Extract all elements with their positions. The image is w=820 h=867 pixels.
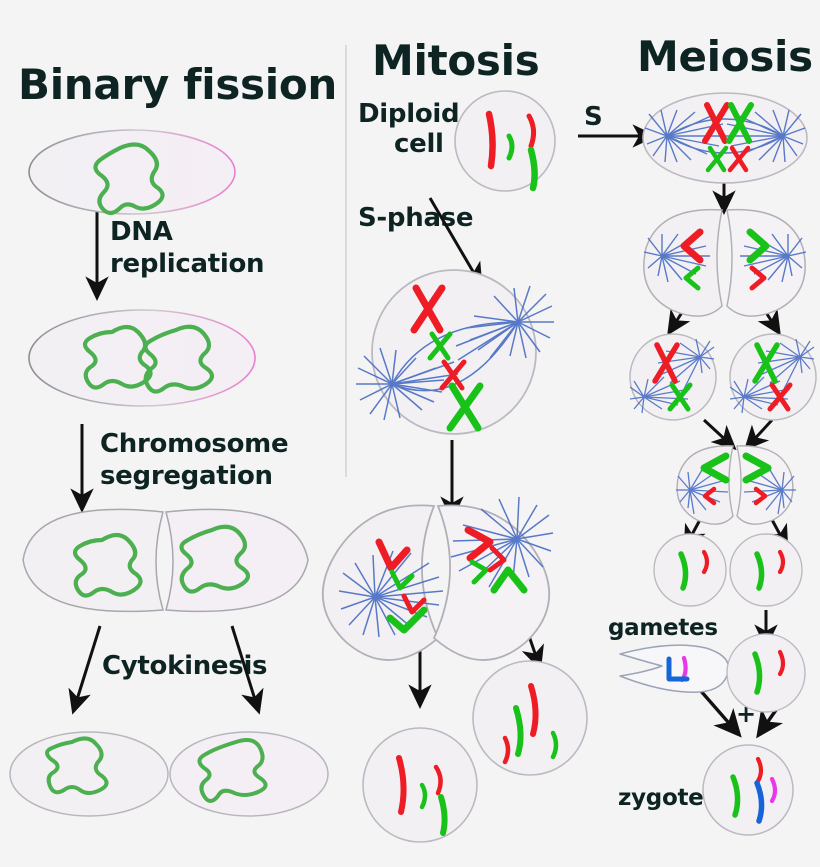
bf-daughter-cell-2 xyxy=(170,732,328,816)
meiosis-anaphase-i xyxy=(644,210,806,316)
meiosis-metaphase-i xyxy=(643,93,807,183)
diagram-artwork xyxy=(0,0,820,867)
mitosis-metaphase-cell xyxy=(356,270,554,434)
bf-segregating-cell xyxy=(23,509,308,611)
meiosis-anaphase-ii xyxy=(676,446,796,524)
bf-daughter-cell-1 xyxy=(10,732,168,816)
mitosis-anaphase-cell xyxy=(323,497,553,660)
meiosis-gamete-cell-2 xyxy=(730,534,802,606)
meiosis-zygote-cell xyxy=(703,745,793,835)
diagram-canvas: Binary fission Mitosis Meiosis DNA repli… xyxy=(0,0,820,867)
bf-parent-cell xyxy=(29,130,235,214)
bf-replicated-cell xyxy=(29,310,255,406)
meiosis-metaphase-ii-right xyxy=(730,334,816,420)
meiosis-sperm-cell xyxy=(620,645,729,692)
meiosis-metaphase-ii-left xyxy=(630,334,716,420)
mitosis-daughter-cell-1 xyxy=(363,728,477,842)
meiosis-egg-cell xyxy=(727,634,805,712)
meiosis-gamete-cell-1 xyxy=(654,534,726,606)
binary-fission-arrows xyxy=(75,212,257,706)
mitosis-daughter-cell-2 xyxy=(473,661,587,775)
mitosis-diploid-cell xyxy=(455,91,555,191)
